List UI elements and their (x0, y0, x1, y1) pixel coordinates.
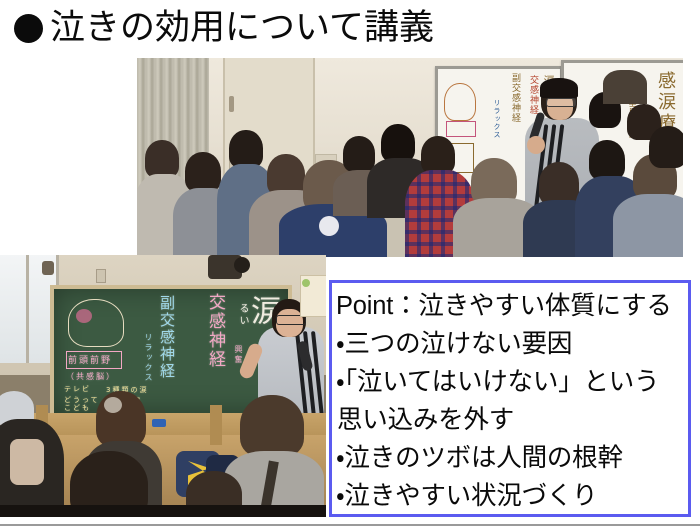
point-line-5: ・泣きのツボは人間の根幹 (336, 439, 686, 477)
point-line-4: 思い込みを外す (336, 401, 686, 439)
point-callout-box: Point：泣きやすい体質にする ・三つの泣けない要因 ・「泣いてはいけない」と… (329, 280, 691, 517)
projector-lens (234, 257, 250, 273)
window-mullion (26, 255, 29, 363)
chalk-text: リラックス (143, 333, 154, 383)
audience-head (229, 130, 263, 168)
audience-head (421, 136, 455, 174)
point-line-2: ・三つの泣けない要因 (336, 325, 686, 363)
audience-head (96, 391, 146, 447)
page-title-text: 泣きの効用について講義 (50, 8, 434, 48)
point-line-1: Point：泣きやすい体質にする (336, 287, 686, 325)
audience-head (343, 136, 375, 172)
bullet-icon (14, 14, 43, 43)
lecture-photo-bottom: 涙 るい 交感神経 副交感神経 リラックス 興奮 前頭前野 （共感脳） テレビ … (0, 255, 326, 517)
chalk-text: テレビ (64, 385, 91, 394)
chalk-text: こども (64, 403, 91, 413)
wall-switch (96, 269, 106, 283)
audience-head (381, 124, 415, 162)
audience-shoulders (613, 194, 683, 257)
slide-bottom-rule (0, 524, 700, 526)
desk-leg (210, 405, 222, 445)
shirt-logo (319, 216, 339, 236)
audience-head (649, 126, 683, 168)
page-title: 泣きの効用について講義 (14, 4, 434, 52)
audience-head (145, 140, 179, 178)
chalk-text: るい (235, 303, 250, 327)
whiteboard-ink: リラックス (492, 99, 502, 139)
chalk-text: 副交感神経 (157, 295, 178, 380)
whiteboard-label-box (446, 121, 476, 137)
audience-head (240, 395, 304, 457)
whiteboard-ink: 副交感神経 (509, 73, 522, 123)
audience-head (185, 152, 221, 192)
photo-bottom-shadow (0, 505, 326, 517)
chalk-text: （共感脳） (66, 371, 116, 382)
audience-scarf (10, 439, 44, 485)
slide-canvas: 泣きの効用について講義 涙活 交感神経 副交感神経 リラックス 感涙療法士 吉田… (0, 0, 700, 529)
photo-top-door-knob (229, 96, 234, 112)
chalk-head-sketch (68, 299, 124, 347)
lecture-photo-top: 涙活 交感神経 副交感神経 リラックス 感涙療法士 吉田英巨 涙活 リラ涙活 不… (137, 58, 683, 257)
chalk-text: 前頭前野 (68, 353, 112, 366)
audience-head (589, 140, 625, 180)
poster-dot (302, 279, 310, 287)
point-line-6: ・泣きやすい状況づくり (336, 477, 686, 515)
point-line-3: ・「泣いてはいけない」という (336, 363, 686, 401)
audience-shoulders (603, 70, 647, 104)
speaker-hair (540, 78, 578, 98)
speaker-hand (527, 136, 545, 154)
wall-lamp (42, 261, 54, 275)
desk-marker (152, 419, 166, 427)
whiteboard-head-sketch (444, 83, 476, 121)
whiteboard-ink: 交感神経 (527, 75, 540, 115)
hair-tie (104, 397, 122, 413)
speaker-glasses (546, 98, 576, 107)
chalk-brain-region (76, 309, 92, 323)
chalk-text: 交感神経 (203, 293, 228, 369)
